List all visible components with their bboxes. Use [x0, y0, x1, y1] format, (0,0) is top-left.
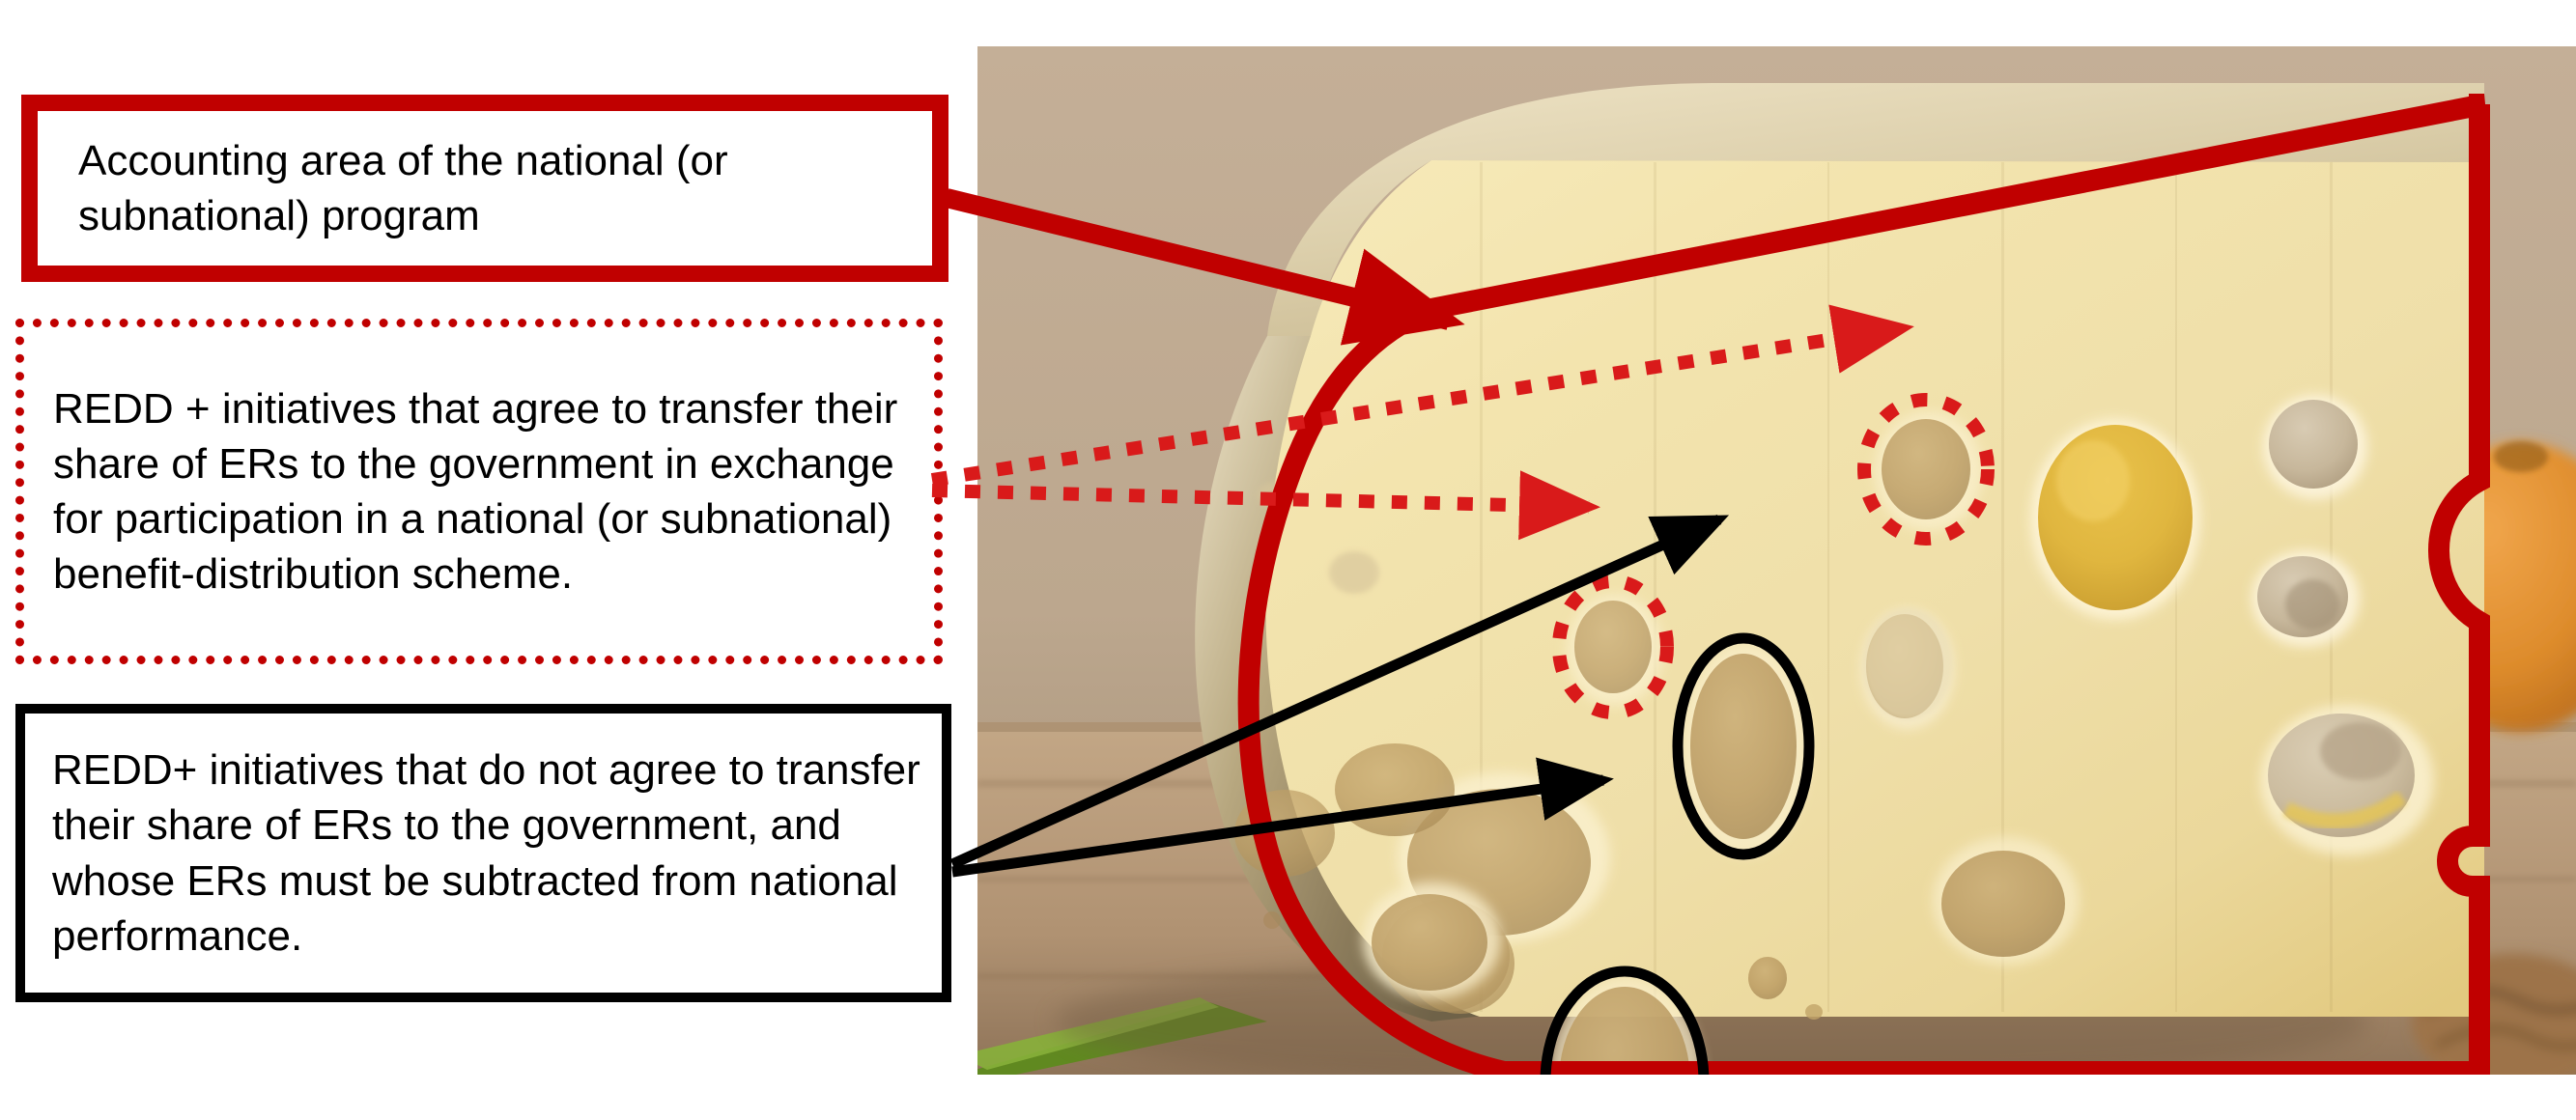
- hole-bottom-left: [1362, 882, 1501, 997]
- hole-tiny-2: [1805, 1004, 1823, 1020]
- callout-redd-no-transfer[interactable]: REDD+ initiatives that do not agree to t…: [15, 704, 951, 1002]
- callout-accounting-area-text: Accounting area of the national (or subn…: [38, 133, 932, 243]
- callout-redd-transfer[interactable]: REDD + initiatives that agree to transfe…: [15, 319, 943, 664]
- callout-redd-transfer-text: REDD + initiatives that agree to transfe…: [24, 381, 934, 602]
- cheese-photo: [977, 46, 2576, 1075]
- hole-tiny-1: [1748, 957, 1787, 999]
- hole-tiny-3: [1263, 911, 1281, 929]
- diagram-canvas: Accounting area of the national (or subn…: [0, 0, 2576, 1120]
- hole-bottom-centre: [1933, 837, 2080, 965]
- callout-accounting-area[interactable]: Accounting area of the national (or subn…: [21, 95, 948, 282]
- highlighted-hole-transfer-b: [1875, 411, 1983, 531]
- callout-redd-no-transfer-text: REDD+ initiatives that do not agree to t…: [25, 742, 942, 964]
- hole-lower-right-pale: [2260, 705, 2434, 855]
